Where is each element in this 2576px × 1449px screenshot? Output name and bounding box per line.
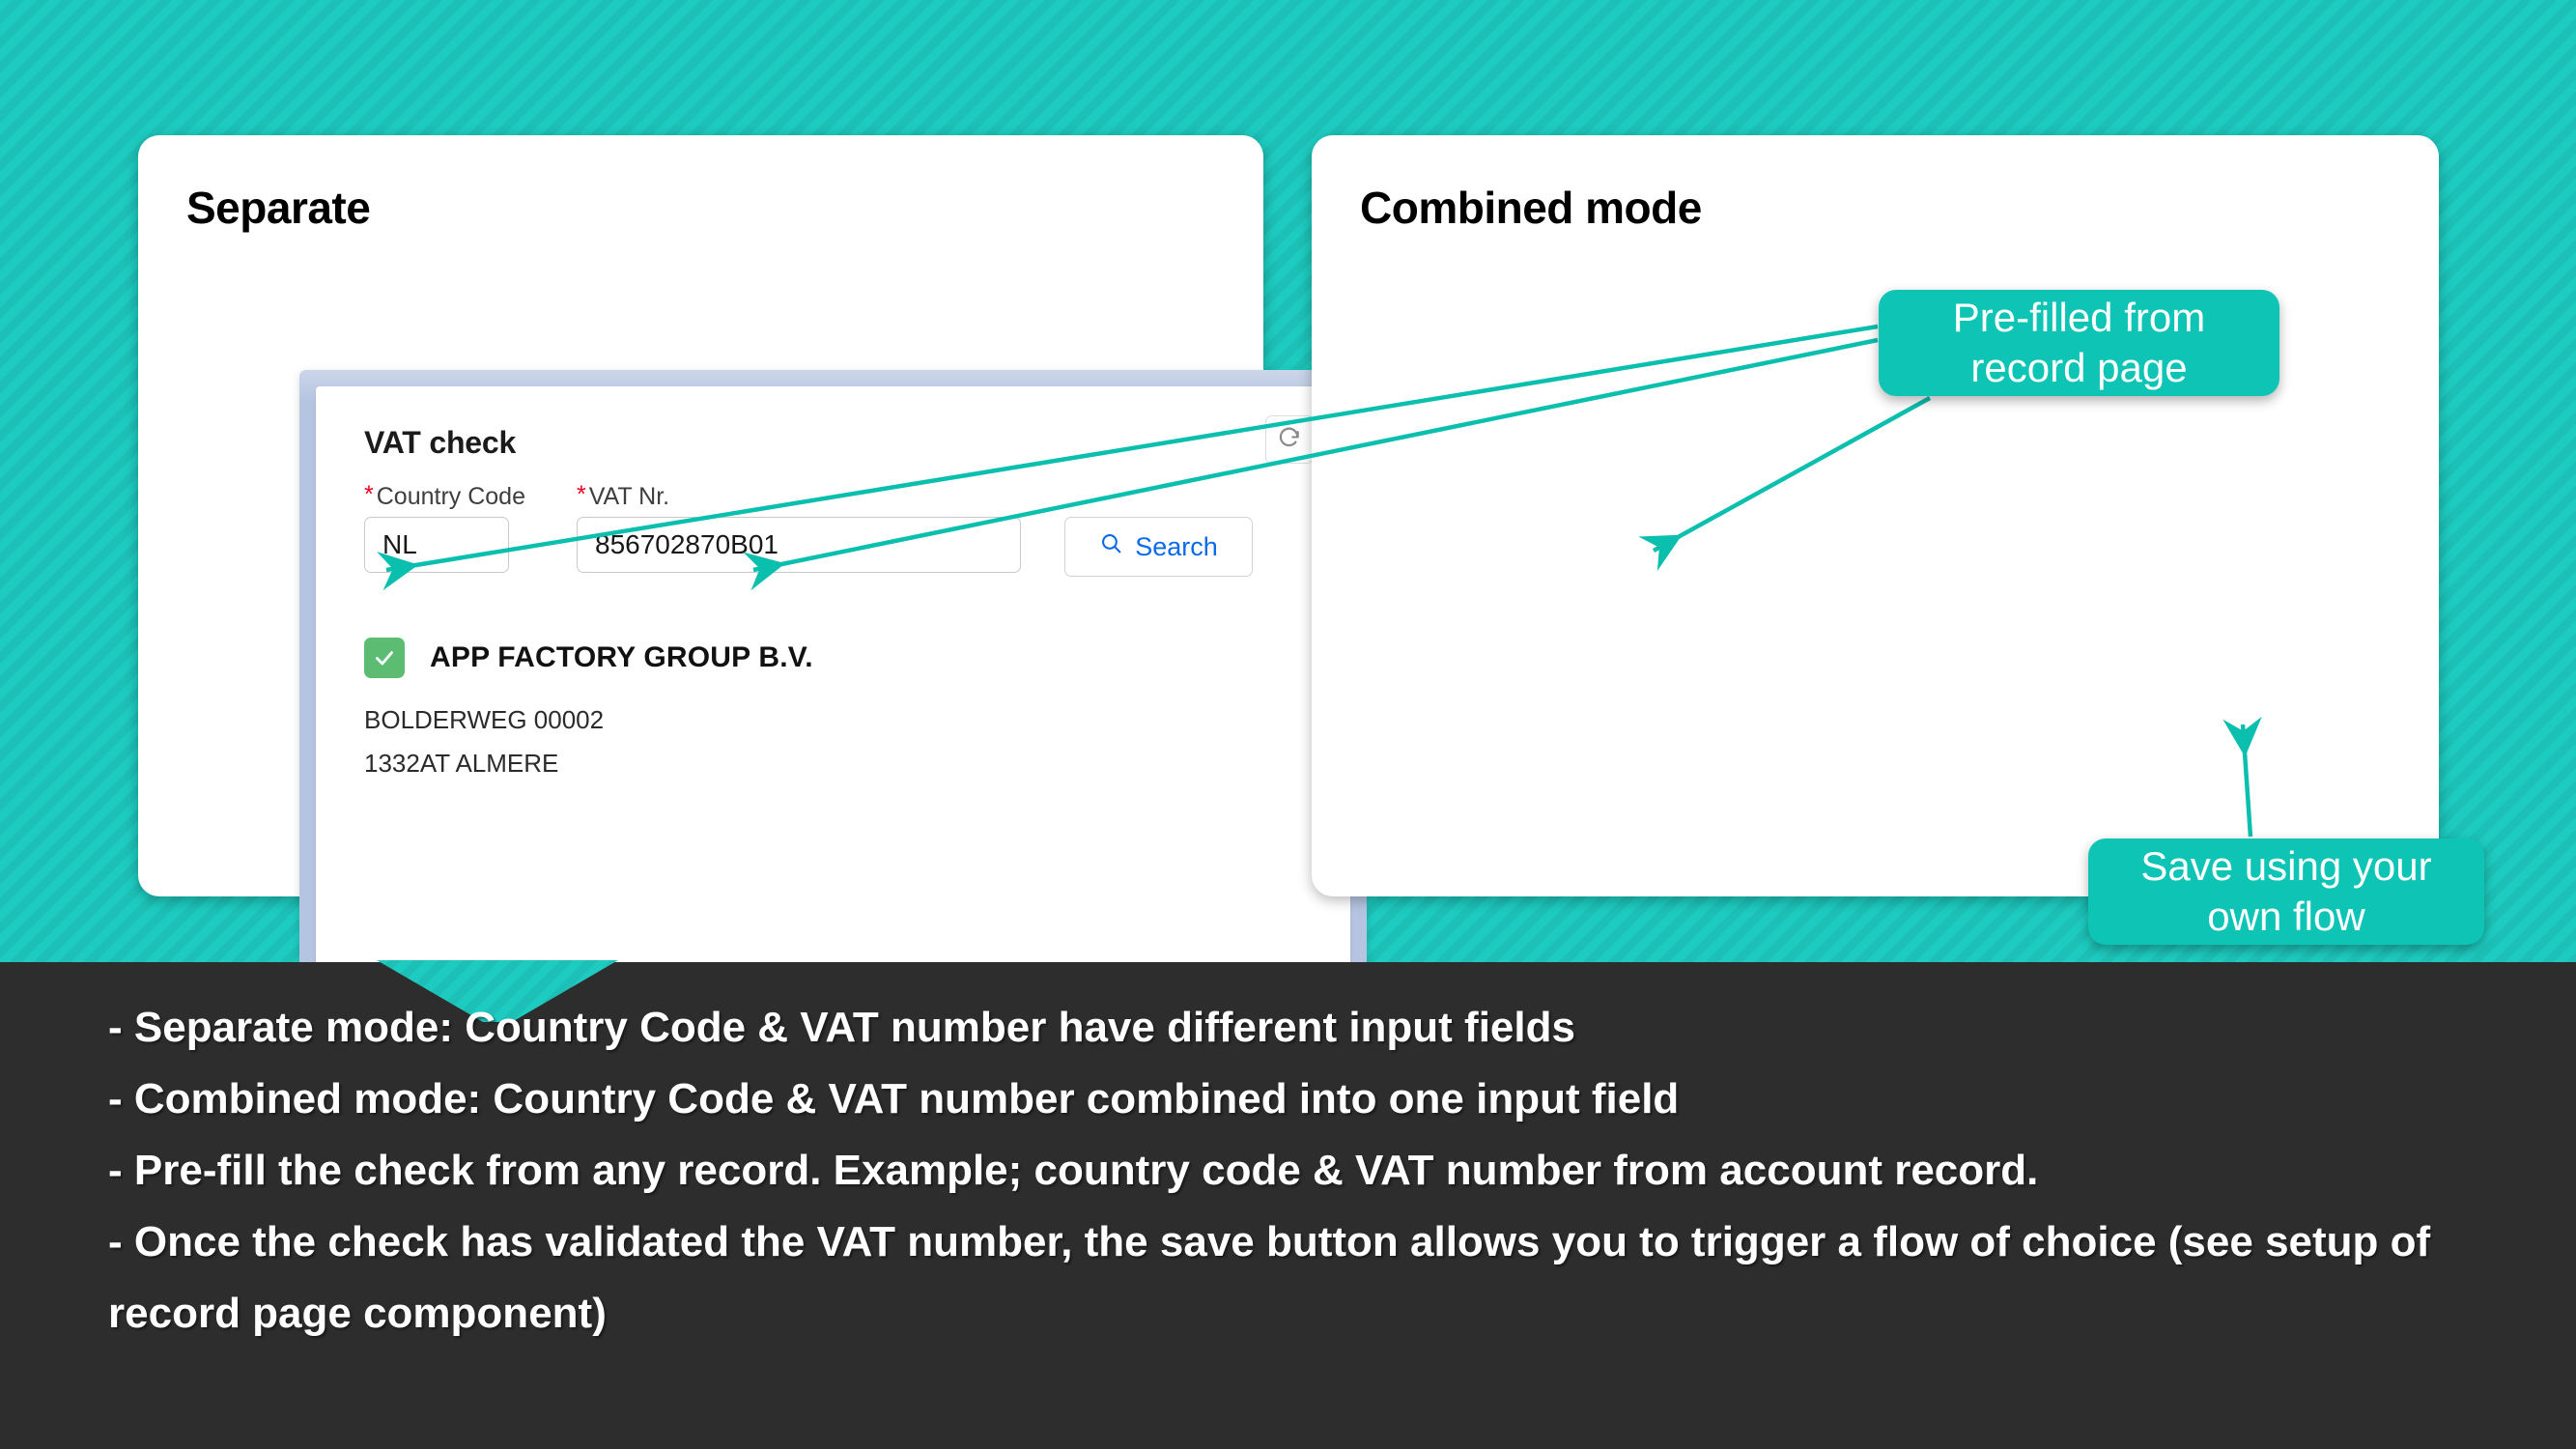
- card-separate-mode: Separate VAT check *Country Code NL: [138, 135, 1263, 896]
- separate-vat-check-panel: VAT check *Country Code NL *VAT Nr.: [316, 386, 1350, 981]
- search-button[interactable]: Search: [1064, 517, 1253, 577]
- country-code-label: *Country Code: [364, 483, 525, 511]
- note-line-2: - Combined mode: Country Code & VAT numb…: [108, 1064, 2513, 1135]
- separate-panel-title: VAT check: [364, 425, 516, 461]
- callout-prefilled: Pre-filled from record page: [1879, 290, 2279, 396]
- notes-text: - Separate mode: Country Code & VAT numb…: [108, 992, 2513, 1350]
- note-line-1: - Separate mode: Country Code & VAT numb…: [108, 992, 2513, 1064]
- vat-nr-label: *VAT Nr.: [577, 483, 669, 511]
- company-name: APP FACTORY GROUP B.V.: [430, 641, 813, 674]
- required-asterisk: *: [577, 481, 586, 508]
- vat-nr-value: 856702870B01: [595, 529, 778, 560]
- search-icon: [1099, 531, 1123, 562]
- address-line-1: BOLDERWEG 00002: [364, 705, 604, 735]
- card-separate-title: Separate: [186, 182, 370, 234]
- address-line-2: 1332AT ALMERE: [364, 749, 558, 779]
- check-icon: [364, 638, 405, 678]
- refresh-button[interactable]: [1265, 415, 1314, 464]
- vat-result-row: APP FACTORY GROUP B.V.: [364, 638, 813, 678]
- required-asterisk: *: [364, 481, 374, 508]
- refresh-icon: [1277, 425, 1302, 455]
- note-line-3: - Pre-fill the check from any record. Ex…: [108, 1135, 2513, 1207]
- search-button-label: Search: [1135, 532, 1218, 562]
- card-combined-title: Combined mode: [1360, 182, 1702, 234]
- country-code-input[interactable]: NL: [364, 517, 509, 573]
- separate-component-frame: VAT check *Country Code NL *VAT Nr.: [299, 370, 1367, 998]
- country-code-value: NL: [382, 529, 417, 560]
- card-combined-mode: Combined mode VAT check *VAT Nr. NL85670…: [1312, 135, 2439, 896]
- callout-save-flow: Save using your own flow: [2088, 838, 2484, 945]
- note-line-4: - Once the check has validated the VAT n…: [108, 1207, 2513, 1350]
- vat-nr-input[interactable]: 856702870B01: [577, 517, 1021, 573]
